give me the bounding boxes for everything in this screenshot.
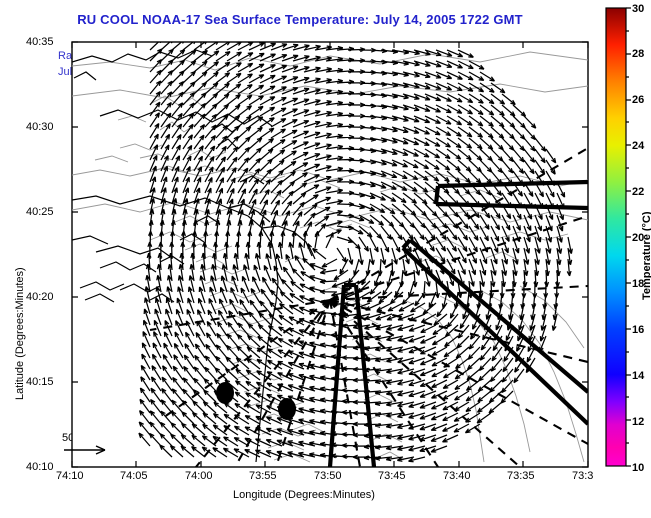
- colorbar: [606, 8, 626, 466]
- figure-canvas: RU COOL NOAA-17 Sea Surface Temperature:…: [0, 0, 651, 518]
- map-plot: [0, 0, 651, 518]
- colorbar-ticks: [626, 8, 631, 466]
